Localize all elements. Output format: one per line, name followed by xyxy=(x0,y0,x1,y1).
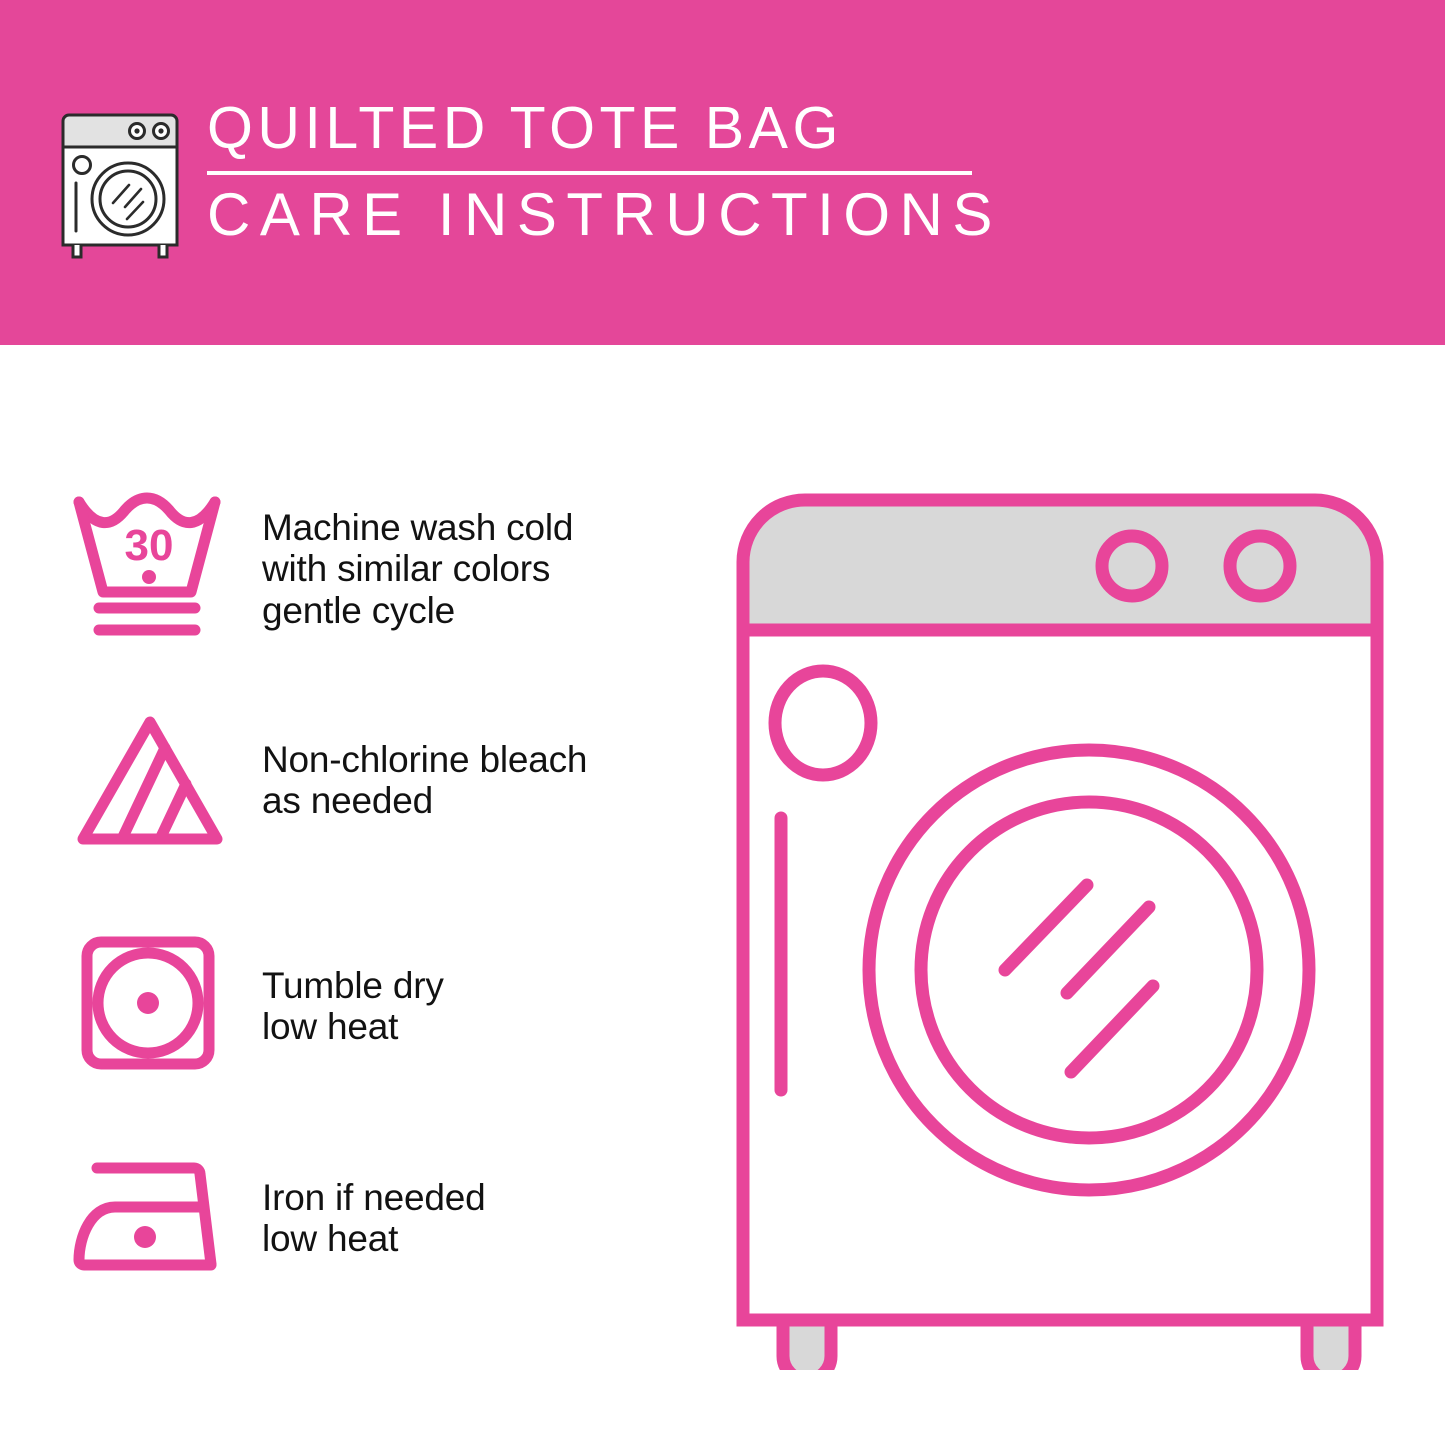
care-instructions-page: QUILTED TOTE BAG CARE INSTRUCTIONS 30 xyxy=(0,0,1445,1445)
care-instruction-list: 30 Machine wash cold with similar colors… xyxy=(60,485,700,1357)
care-text-line: gentle cycle xyxy=(262,590,700,631)
tumble-dry-icon xyxy=(60,921,240,1081)
washing-machine-icon xyxy=(55,103,185,263)
care-text-line: as needed xyxy=(262,780,700,821)
page-subtitle: CARE INSTRUCTIONS xyxy=(207,185,1055,245)
control-knob xyxy=(1102,536,1162,596)
wash-temperature-value: 30 xyxy=(125,521,174,570)
care-row-iron: Iron if needed low heat xyxy=(60,1139,700,1357)
control-knob xyxy=(1230,536,1290,596)
care-row-tumble-dry: Tumble dry low heat xyxy=(60,921,700,1139)
wash-tub-icon: 30 xyxy=(60,485,240,645)
header-band: QUILTED TOTE BAG CARE INSTRUCTIONS xyxy=(0,0,1445,345)
care-text-tumble-dry: Tumble dry low heat xyxy=(240,921,700,1048)
care-row-machine-wash: 30 Machine wash cold with similar colors… xyxy=(60,485,700,703)
care-text-iron: Iron if needed low heat xyxy=(240,1139,700,1260)
header-content: QUILTED TOTE BAG CARE INSTRUCTIONS xyxy=(55,95,1055,270)
iron-icon xyxy=(60,1139,240,1299)
care-text-line: low heat xyxy=(262,1006,700,1047)
care-text-line: Iron if needed xyxy=(262,1177,700,1218)
title-divider xyxy=(207,171,972,175)
care-text-line: Tumble dry xyxy=(262,965,700,1006)
care-row-bleach: Non-chlorine bleach as needed xyxy=(60,703,700,921)
header-text-block: QUILTED TOTE BAG CARE INSTRUCTIONS xyxy=(207,95,1055,245)
care-text-machine-wash: Machine wash cold with similar colors ge… xyxy=(240,485,700,631)
care-text-bleach: Non-chlorine bleach as needed xyxy=(240,703,700,822)
machine-leg xyxy=(1307,1320,1355,1370)
care-text-line: Non-chlorine bleach xyxy=(262,739,700,780)
care-text-line: low heat xyxy=(262,1218,700,1259)
page-title: QUILTED TOTE BAG xyxy=(207,99,1055,158)
care-text-line: with similar colors xyxy=(262,548,700,589)
machine-leg xyxy=(783,1320,831,1370)
bleach-triangle-icon xyxy=(60,703,240,863)
washing-machine-illustration xyxy=(715,470,1405,1370)
care-text-line: Machine wash cold xyxy=(262,507,700,548)
